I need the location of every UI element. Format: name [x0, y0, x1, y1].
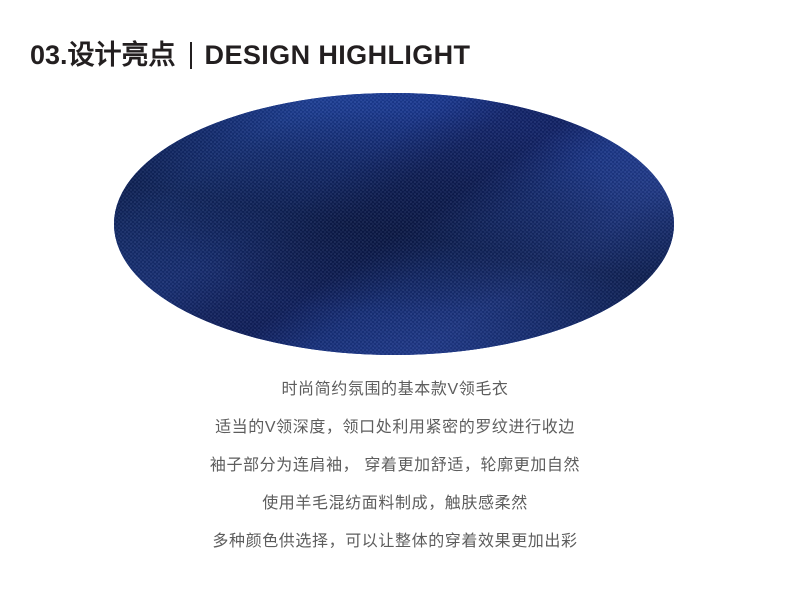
description-block: 时尚简约氛围的基本款V领毛衣 适当的V领深度，领口处利用紧密的罗纹进行收边 袖子… — [0, 371, 790, 561]
description-line: 使用羊毛混纺面料制成，触肤感柔然 — [0, 485, 790, 523]
section-number-title-cn: 03.设计亮点 — [30, 42, 176, 69]
heading-divider-icon — [190, 42, 192, 69]
description-line: 时尚简约氛围的基本款V领毛衣 — [0, 371, 790, 409]
fabric-photo-ellipse — [114, 93, 674, 355]
fabric-photo-graphic — [114, 93, 674, 355]
description-line: 袖子部分为连肩袖， 穿着更加舒适，轮廓更加自然 — [0, 447, 790, 485]
description-line: 适当的V领深度，领口处利用紧密的罗纹进行收边 — [0, 409, 790, 447]
description-line: 多种颜色供选择，可以让整体的穿着效果更加出彩 — [0, 523, 790, 561]
product-detail-page: 03.设计亮点 DESIGN HIGHLIGHT — [0, 0, 790, 616]
section-heading: 03.设计亮点 DESIGN HIGHLIGHT — [30, 35, 470, 75]
section-title-en: DESIGN HIGHLIGHT — [205, 42, 471, 69]
